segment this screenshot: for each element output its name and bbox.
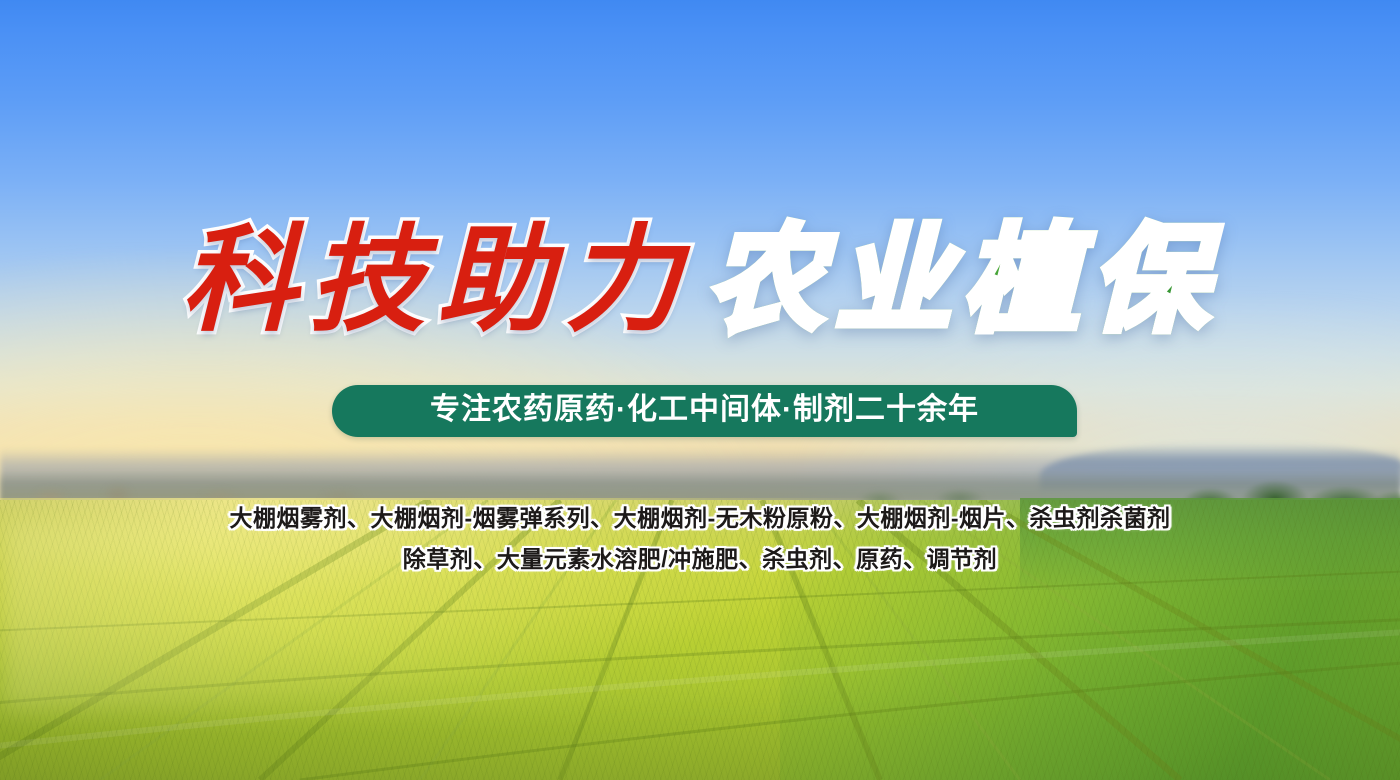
product-list: 大棚烟雾剂、大棚烟剂-烟雾弹系列、大棚烟剂-无木粉原粉、大棚烟剂-烟片、杀虫剂杀… xyxy=(0,498,1400,580)
headline-red-text: 科技助力 xyxy=(181,205,693,355)
headline: 科技助力农业植保 xyxy=(0,205,1400,355)
subtitle-text: 专注农药原药·化工中间体·制剂二十余年 xyxy=(430,395,979,427)
promo-banner: 科技助力农业植保 专注农药原药·化工中间体·制剂二十余年 大棚烟雾剂、大棚烟剂-… xyxy=(0,0,1400,780)
product-line-1: 大棚烟雾剂、大棚烟剂-烟雾弹系列、大棚烟剂-无木粉原粉、大棚烟剂-烟片、杀虫剂杀… xyxy=(0,498,1400,539)
subtitle-pill: 专注农药原药·化工中间体·制剂二十余年 xyxy=(332,385,1077,437)
product-line-2: 除草剂、大量元素水溶肥/冲施肥、杀虫剂、原药、调节剂 xyxy=(0,539,1400,580)
headline-green-text: 农业植保 xyxy=(707,205,1219,355)
